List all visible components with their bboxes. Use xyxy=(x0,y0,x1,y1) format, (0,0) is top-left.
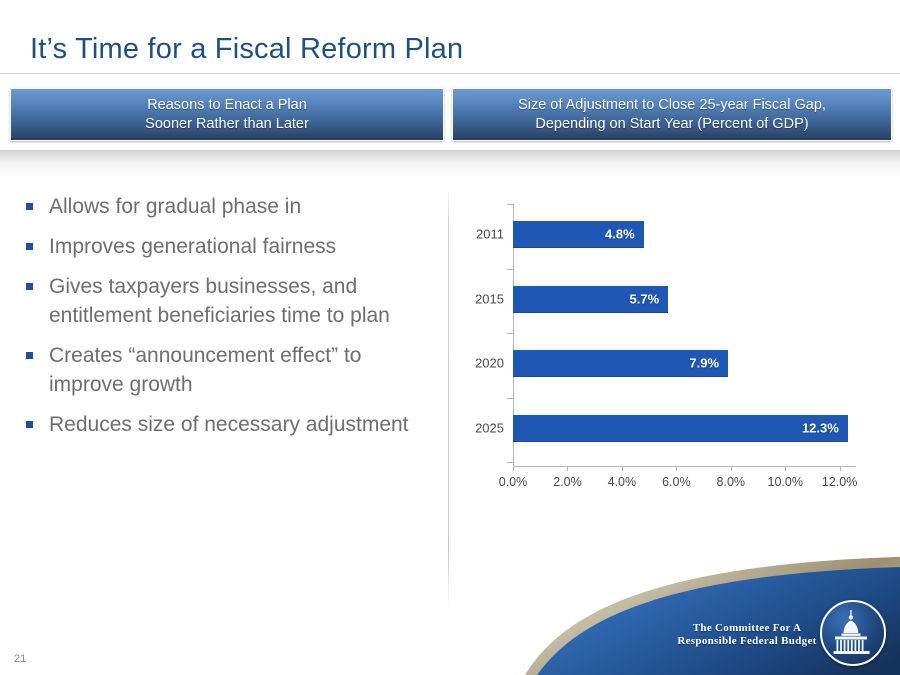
bullet-item-3: Gives taxpayers businesses, and entitlem… xyxy=(26,272,436,330)
bullet-item-5: Reduces size of necessary adjustment xyxy=(26,410,436,439)
bullet-item-1: Allows for gradual phase in xyxy=(26,192,436,221)
chart-x-axis xyxy=(513,466,856,467)
chart-x-tick xyxy=(513,466,514,471)
chart-x-tick-label: 10.0% xyxy=(767,475,802,489)
bullet-item-label: Creates “announcement effect” to improve… xyxy=(49,341,436,399)
chart-x-tick xyxy=(785,466,786,471)
chart-bar-row: 12.3% xyxy=(513,415,856,441)
banner-right: Size of Adjustment to Close 25-year Fisc… xyxy=(452,88,892,141)
banner-right-text: Size of Adjustment to Close 25-year Fisc… xyxy=(518,96,826,134)
bullet-square-icon xyxy=(26,352,33,359)
banner-shadow xyxy=(0,150,900,180)
chart-x-tick xyxy=(567,466,568,471)
chart-plot-area: 4.8%20115.7%20157.9%202012.3%2025 xyxy=(513,204,856,462)
bullet-item-2: Improves generational fairness xyxy=(26,232,436,261)
bullet-square-icon xyxy=(26,243,33,250)
banner-right-line2: Depending on Start Year (Percent of GDP) xyxy=(518,115,826,134)
chart-x-tick xyxy=(622,466,623,471)
page-number: 21 xyxy=(14,653,26,665)
bullet-list: Allows for gradual phase inImproves gene… xyxy=(26,192,436,450)
chart-bar-value-label: 12.3% xyxy=(802,420,839,435)
bullet-square-icon xyxy=(26,203,33,210)
chart-x-tick-label: 0.0% xyxy=(499,475,528,489)
chart-bar-2015: 5.7% xyxy=(513,286,668,313)
bullet-square-icon xyxy=(26,283,33,290)
footer-organization: The Committee For A Responsible Federal … xyxy=(672,622,822,648)
chart-bar-row: 5.7% xyxy=(513,286,856,312)
bullet-item-label: Reduces size of necessary adjustment xyxy=(49,410,409,439)
footer-line-2: Responsible Federal Budget xyxy=(672,635,822,648)
chart-x-tick-label: 4.0% xyxy=(608,475,637,489)
chart-x-tick xyxy=(731,466,732,471)
chart-x-tick xyxy=(676,466,677,471)
title-divider xyxy=(0,73,900,74)
slide: It’s Time for a Fiscal Reform Plan Reaso… xyxy=(0,0,900,675)
chart-x-tick xyxy=(840,466,841,471)
chart-bar-2011: 4.8% xyxy=(513,221,644,248)
bullet-item-4: Creates “announcement effect” to improve… xyxy=(26,341,436,399)
chart-category-label-2011: 2011 xyxy=(476,227,504,242)
bullet-item-label: Gives taxpayers businesses, and entitlem… xyxy=(49,272,436,330)
bullet-item-label: Improves generational fairness xyxy=(49,232,336,261)
chart-x-tick-label: 6.0% xyxy=(662,475,691,489)
fiscal-gap-bar-chart: 4.8%20115.7%20157.9%202012.3%2025 0.0%2.… xyxy=(462,192,892,502)
chart-bar-value-label: 7.9% xyxy=(689,356,719,371)
banner-right-line1: Size of Adjustment to Close 25-year Fisc… xyxy=(518,96,826,115)
chart-y-tick xyxy=(507,333,513,334)
chart-bar-2025: 12.3% xyxy=(513,415,848,442)
chart-bar-2020: 7.9% xyxy=(513,350,728,377)
chart-bar-row: 7.9% xyxy=(513,350,856,376)
chart-y-tick xyxy=(507,462,513,463)
banner-left: Reasons to Enact a Plan Sooner Rather th… xyxy=(10,88,444,141)
bullet-item-label: Allows for gradual phase in xyxy=(49,192,301,221)
chart-x-tick-label: 12.0% xyxy=(822,475,857,489)
capitol-dome-logo-icon xyxy=(820,600,886,666)
banner-left-line1: Reasons to Enact a Plan xyxy=(145,96,309,115)
chart-bar-value-label: 5.7% xyxy=(630,291,660,306)
footer-line-1: The Committee For A xyxy=(672,622,822,635)
chart-category-label-2025: 2025 xyxy=(475,420,504,435)
chart-y-tick xyxy=(507,398,513,399)
chart-x-tick-label: 8.0% xyxy=(717,475,746,489)
chart-y-tick xyxy=(507,269,513,270)
chart-bar-value-label: 4.8% xyxy=(605,227,635,242)
chart-category-label-2020: 2020 xyxy=(475,356,504,371)
bullet-square-icon xyxy=(26,421,33,428)
column-divider xyxy=(448,188,449,606)
chart-y-tick xyxy=(507,204,513,205)
page-title: It’s Time for a Fiscal Reform Plan xyxy=(30,33,463,66)
chart-x-tick-label: 2.0% xyxy=(553,475,582,489)
chart-bar-row: 4.8% xyxy=(513,221,856,247)
chart-category-label-2015: 2015 xyxy=(475,291,504,306)
banner-left-line2: Sooner Rather than Later xyxy=(145,115,309,134)
banner-left-text: Reasons to Enact a Plan Sooner Rather th… xyxy=(145,96,309,134)
